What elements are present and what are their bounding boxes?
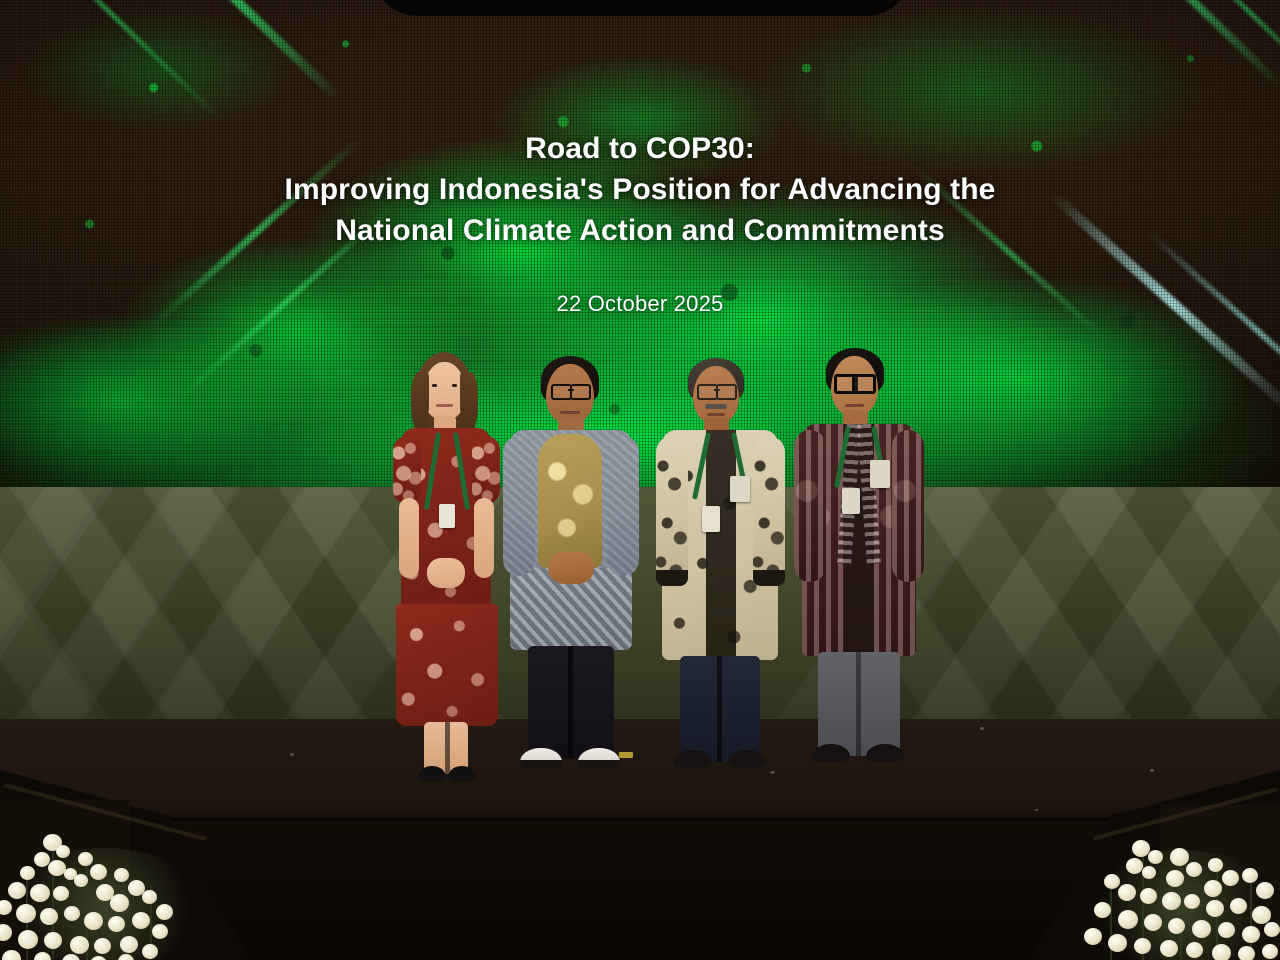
badge-lanyard [702, 506, 720, 532]
shoe-left [418, 766, 446, 782]
glasses-icon [697, 384, 737, 397]
badge-lanyard [842, 488, 860, 514]
clasped-hands [427, 558, 465, 588]
person-4-man-in-maroon-batik-shirt [790, 348, 928, 782]
shoe-right [866, 744, 904, 762]
eye-right [452, 384, 457, 387]
arm-left [794, 430, 826, 582]
forearm-right [474, 498, 494, 578]
shoe-left [674, 750, 712, 768]
mouth [845, 404, 864, 407]
shoe-sole-right [578, 760, 620, 768]
arm-right [472, 436, 500, 504]
eye-left [432, 384, 437, 387]
flower-arrangement-right [1070, 818, 1280, 960]
flower-arrangement-left [0, 812, 240, 960]
badge-chest [730, 476, 750, 502]
arm-left [503, 436, 535, 576]
arm-left [656, 436, 688, 586]
person-3-man-in-cream-black-batik-shirt [654, 358, 786, 780]
mouth [707, 413, 725, 416]
hair-left-strand [411, 372, 429, 434]
badge-chest [870, 460, 890, 488]
shoe-left [812, 744, 850, 762]
cuff-left [656, 570, 688, 586]
glasses-icon [551, 384, 591, 397]
shoe-sole-left [520, 760, 562, 768]
clasped-hands [548, 552, 594, 584]
lanyard [430, 432, 464, 510]
shoe-right [448, 766, 476, 782]
forearm-left [399, 498, 419, 578]
shoe-right [728, 750, 766, 768]
glasses-icon [834, 374, 876, 388]
badge [439, 504, 455, 528]
arm-right [753, 436, 785, 586]
arm-right [607, 436, 639, 576]
mouth [560, 411, 580, 414]
moustache [705, 404, 727, 409]
ceiling-truss-shape [372, 0, 912, 16]
hair-right-strand [460, 372, 478, 434]
arm-left [393, 436, 421, 504]
arm-right [892, 430, 924, 582]
person-2-man-in-grey-gold-batik-shirt [498, 356, 644, 780]
mouth [436, 404, 453, 407]
event-photo: Road to COP30: Improving Indonesia's Pos… [0, 0, 1280, 960]
person-1-woman-in-red-batik-dress [386, 352, 516, 782]
cuff-right [753, 570, 785, 586]
dress-skirt [396, 604, 498, 726]
shirt-gold-panel [538, 434, 602, 568]
